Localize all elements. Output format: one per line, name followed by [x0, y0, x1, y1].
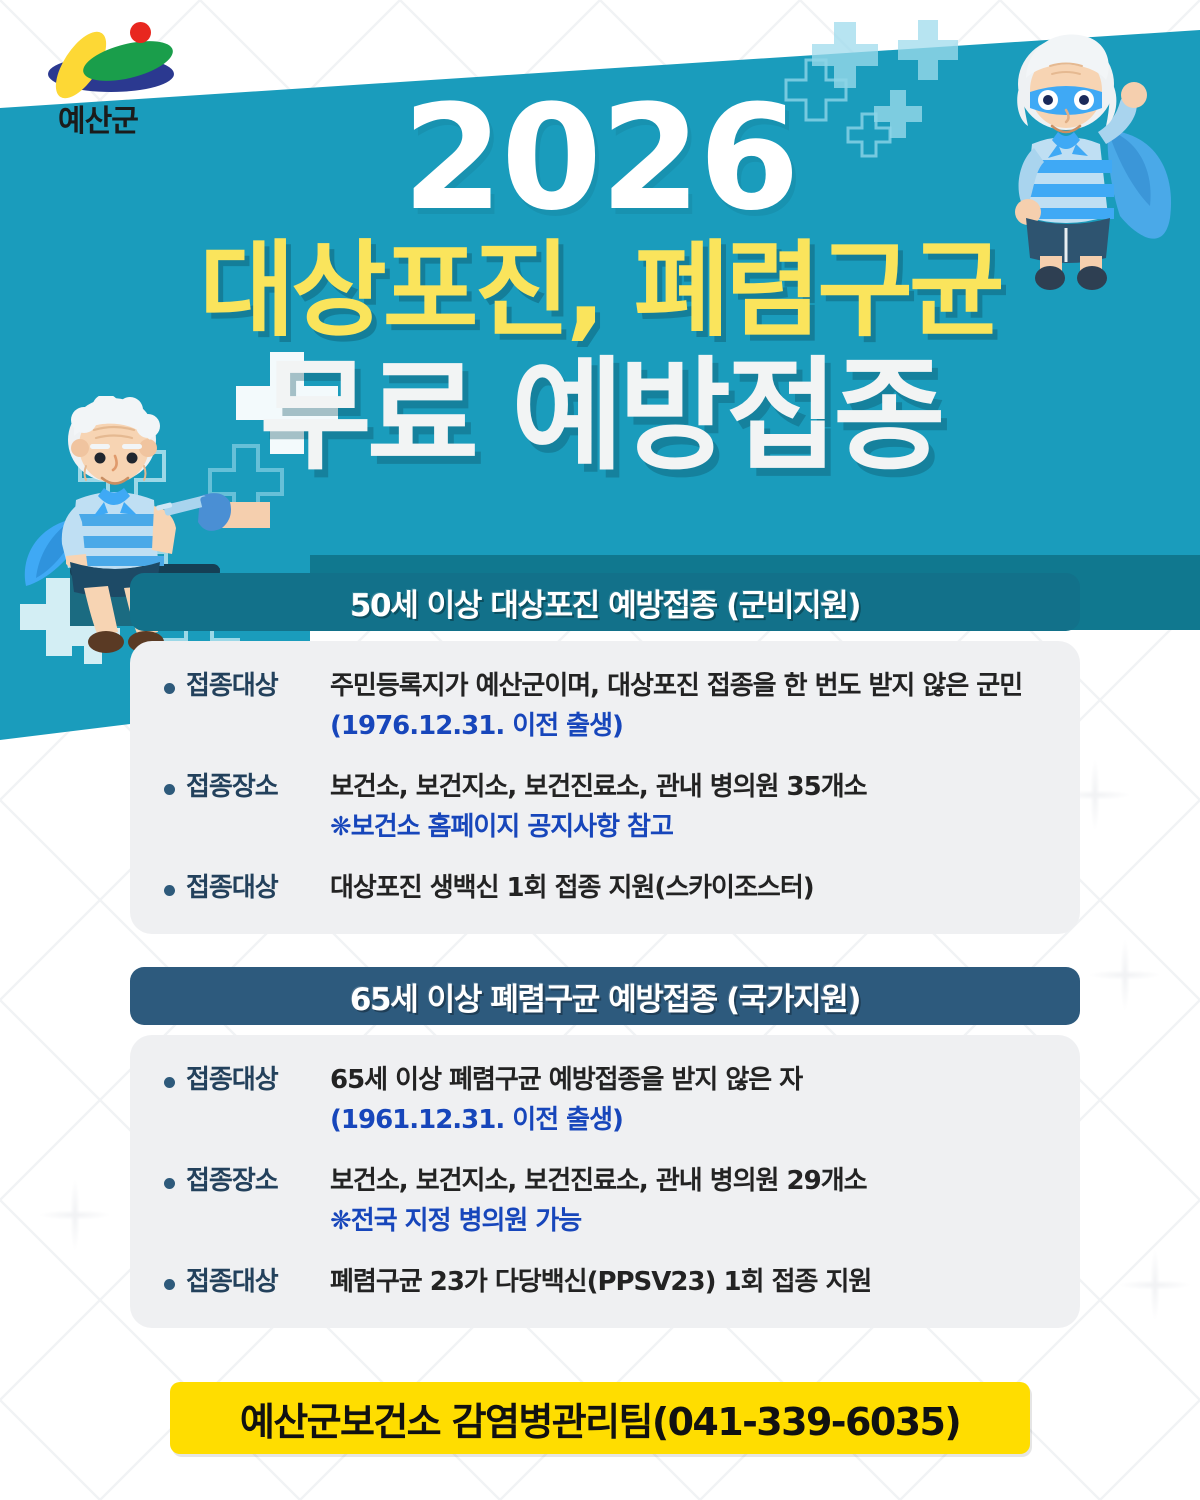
table-row: 접종대상 대상포진 생백신 1회 접종 지원(스카이조스터) — [164, 871, 1046, 906]
row-note-text: (1976.12.31. 이전 출생) — [330, 709, 1046, 744]
section-header-pneumococcal: 65세 이상 폐렴구균 예방접종 (국가지원) — [130, 967, 1080, 1025]
row-main-text: 보건소, 보건지소, 보건진료소, 관내 병의원 35개소 — [330, 770, 1046, 805]
bullet-dot-icon — [164, 1077, 175, 1088]
row-body: 주민등록지가 예산군이며, 대상포진 접종을 한 번도 받지 않은 군민 (19… — [330, 669, 1046, 744]
bullet-dot-icon — [164, 683, 175, 694]
row-label: 접종대상 — [186, 669, 330, 704]
title-line2: 무료 예방접종 — [0, 355, 1200, 477]
row-label: 접종대상 — [186, 1265, 330, 1300]
logo-red-dot — [130, 22, 151, 43]
row-body: 폐렴구균 23가 다당백신(PPSV23) 1회 접종 지원 — [330, 1265, 1046, 1300]
table-row: 접종장소 보건소, 보건지소, 보건진료소, 관내 병의원 29개소 ❋전국 지… — [164, 1164, 1046, 1239]
background-sparkle — [40, 1180, 110, 1250]
row-label: 접종장소 — [186, 1164, 330, 1199]
row-main-text: 주민등록지가 예산군이며, 대상포진 접종을 한 번도 받지 않은 군민 — [330, 669, 1046, 704]
row-label: 접종대상 — [186, 1063, 330, 1098]
row-body: 보건소, 보건지소, 보건진료소, 관내 병의원 29개소 ❋전국 지정 병의원… — [330, 1164, 1046, 1239]
table-row: 접종장소 보건소, 보건지소, 보건진료소, 관내 병의원 35개소 ❋보건소 … — [164, 770, 1046, 845]
row-note-text: ❋보건소 홈페이지 공지사항 참고 — [330, 810, 1046, 845]
row-main-text: 보건소, 보건지소, 보건진료소, 관내 병의원 29개소 — [330, 1164, 1046, 1199]
row-main-text: 대상포진 생백신 1회 접종 지원(스카이조스터) — [330, 871, 1046, 906]
row-label: 접종장소 — [186, 770, 330, 805]
row-note-text: (1961.12.31. 이전 출생) — [330, 1103, 1046, 1138]
bullet-dot-icon — [164, 784, 175, 795]
row-main-text: 폐렴구균 23가 다당백신(PPSV23) 1회 접종 지원 — [330, 1265, 1046, 1300]
row-note-text: ❋전국 지정 병의원 가능 — [330, 1204, 1046, 1239]
bullet-dot-icon — [164, 1178, 175, 1189]
row-body: 대상포진 생백신 1회 접종 지원(스카이조스터) — [330, 871, 1046, 906]
row-main-text: 65세 이상 폐렴구균 예방접종을 받지 않은 자 — [330, 1063, 1046, 1098]
logo-emblem-icon — [42, 22, 182, 94]
row-label: 접종대상 — [186, 871, 330, 906]
background-sparkle — [1120, 1250, 1190, 1320]
section-pneumococcal: 65세 이상 폐렴구균 예방접종 (국가지원) 접종대상 65세 이상 폐렴구균… — [130, 967, 1080, 1328]
table-row: 접종대상 65세 이상 폐렴구균 예방접종을 받지 않은 자 (1961.12.… — [164, 1063, 1046, 1138]
row-body: 보건소, 보건지소, 보건진료소, 관내 병의원 35개소 ❋보건소 홈페이지 … — [330, 770, 1046, 845]
row-body: 65세 이상 폐렴구균 예방접종을 받지 않은 자 (1961.12.31. 이… — [330, 1063, 1046, 1138]
section-card-shingles: 접종대상 주민등록지가 예산군이며, 대상포진 접종을 한 번도 받지 않은 군… — [130, 641, 1080, 934]
background-sparkle — [1090, 940, 1160, 1010]
title-line1: 대상포진, 폐렴구균 — [0, 238, 1200, 342]
section-header-shingles: 50세 이상 대상포진 예방접종 (군비지원) — [130, 573, 1080, 631]
title-year: 2026 — [0, 86, 1200, 231]
bullet-dot-icon — [164, 1279, 175, 1290]
bullet-dot-icon — [164, 885, 175, 896]
contact-banner: 예산군보건소 감염병관리팀(041-339-6035) — [170, 1382, 1030, 1454]
section-card-pneumococcal: 접종대상 65세 이상 폐렴구균 예방접종을 받지 않은 자 (1961.12.… — [130, 1035, 1080, 1328]
poster-root: 예산군 2026 대상포진, 폐렴구균 무료 예방접종 — [0, 0, 1200, 1500]
table-row: 접종대상 주민등록지가 예산군이며, 대상포진 접종을 한 번도 받지 않은 군… — [164, 669, 1046, 744]
table-row: 접종대상 폐렴구균 23가 다당백신(PPSV23) 1회 접종 지원 — [164, 1265, 1046, 1300]
section-shingles: 50세 이상 대상포진 예방접종 (군비지원) 접종대상 주민등록지가 예산군이… — [130, 573, 1080, 934]
